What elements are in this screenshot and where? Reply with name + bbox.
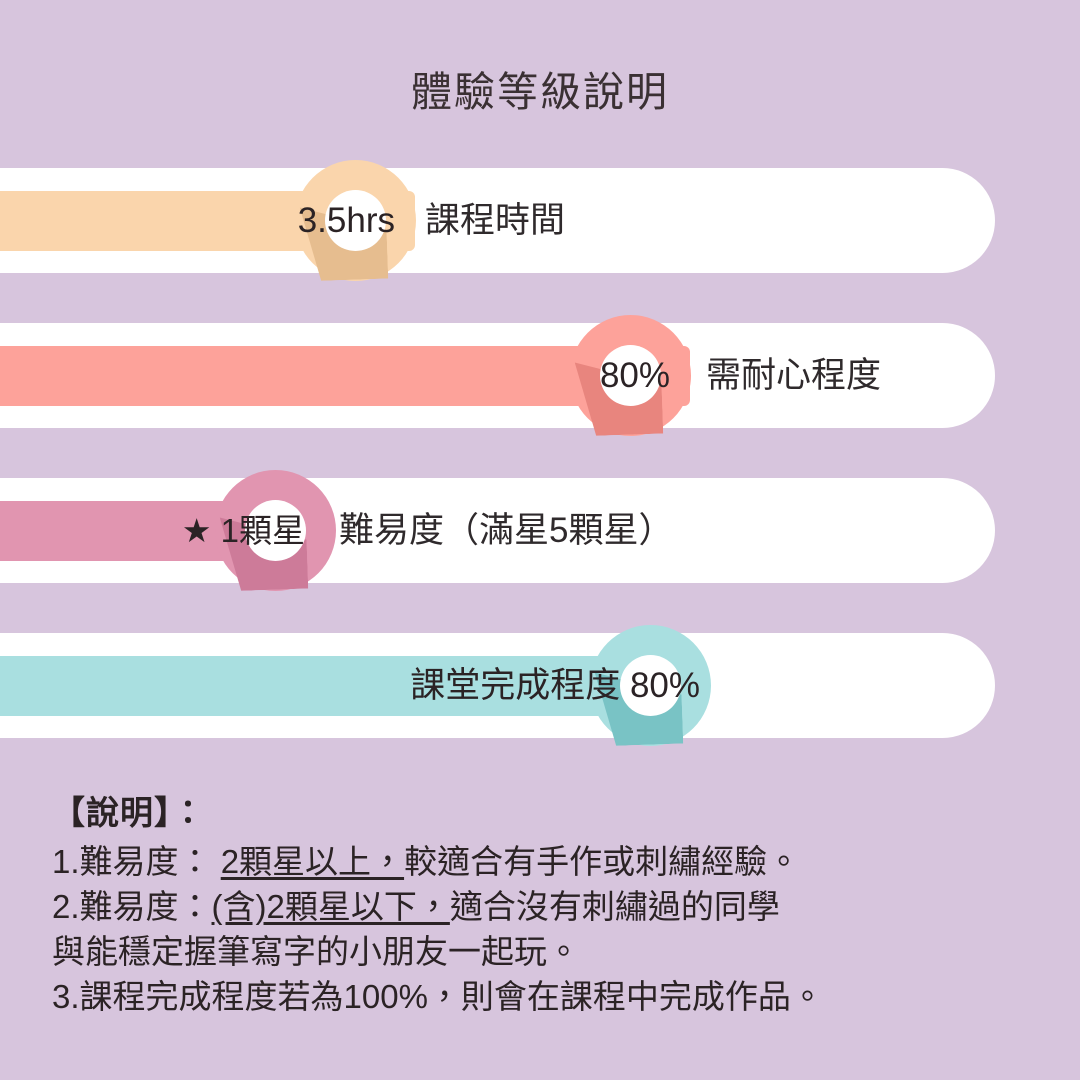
slider-row-patience-required: 80% 需耐心程度 — [0, 315, 1080, 470]
slider-value: 3.5hrs — [298, 191, 395, 251]
note-line: 2.難易度：(含)2顆星以下，適合沒有刺繡過的同學 — [52, 884, 1052, 929]
slider-value: 課堂完成程度 80% — [410, 656, 700, 716]
note-prefix: 3.課程完成程度若為100%，則會在課程中完成作品。 — [52, 978, 824, 1015]
slider-row-class-completion: 課堂完成程度 80% — [0, 625, 1080, 780]
slider-list: 3.5hrs 課程時間 80% 需耐心程度 ★ 1顆星 難易度（滿星5顆星） — [0, 160, 1080, 780]
slider-value: ★ 1顆星 — [182, 501, 305, 561]
note-line: 與能穩定握筆寫字的小朋友一起玩。 — [52, 929, 1052, 974]
page-title: 體驗等級說明 — [0, 58, 1080, 118]
note-prefix: 1.難易度： — [52, 843, 221, 880]
note-prefix: 與能穩定握筆寫字的小朋友一起玩。 — [52, 933, 580, 970]
note-suffix: 較適合有手作或刺繡經驗。 — [404, 843, 800, 880]
slider-row-difficulty-level: ★ 1顆星 難易度（滿星5顆星） — [0, 470, 1080, 625]
note-line: 3.課程完成程度若為100%，則會在課程中完成作品。 — [52, 974, 1052, 1019]
note-underlined: 2顆星以上， — [221, 843, 404, 880]
note-prefix: 2.難易度： — [52, 888, 212, 925]
slider-label: 課程時間 — [425, 191, 565, 251]
slider-label: 難易度（滿星5顆星） — [339, 501, 673, 561]
note-underlined: (含)2顆星以下， — [212, 888, 450, 925]
note-suffix: 適合沒有刺繡過的同學 — [450, 888, 780, 925]
slider-value: 80% — [600, 346, 670, 406]
slider-label: 需耐心程度 — [706, 346, 881, 406]
slider-row-course-duration: 3.5hrs 課程時間 — [0, 160, 1080, 315]
notes-heading: 【說明】： — [52, 786, 1052, 834]
notes-block: 【說明】： 1.難易度： 2顆星以上，較適合有手作或刺繡經驗。 2.難易度：(含… — [52, 786, 1052, 1019]
note-line: 1.難易度： 2顆星以上，較適合有手作或刺繡經驗。 — [52, 839, 1052, 884]
